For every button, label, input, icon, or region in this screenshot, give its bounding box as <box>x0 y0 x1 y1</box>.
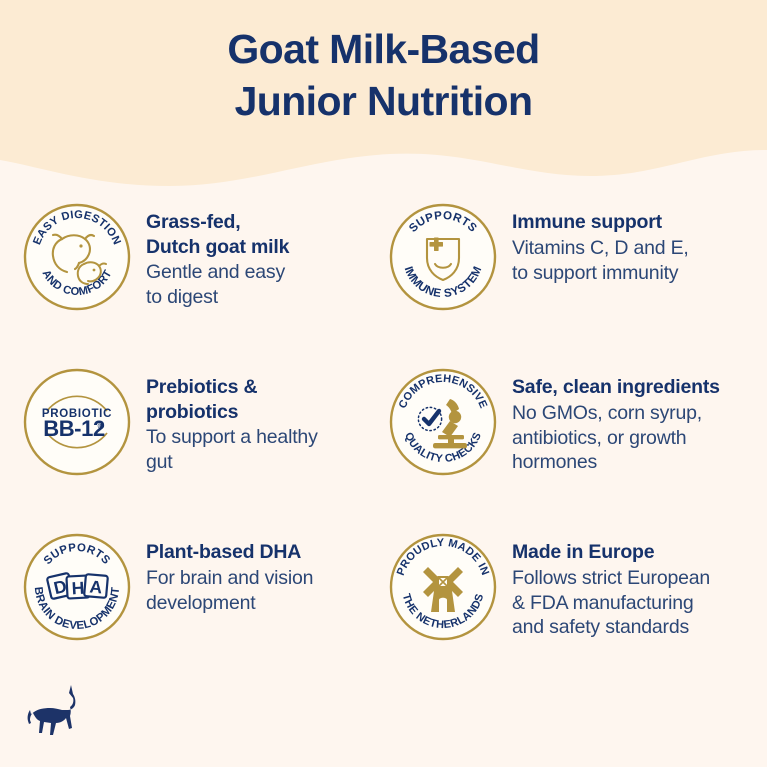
feature-text: Plant-based DHA For brain and vision dev… <box>146 526 313 615</box>
feature-text: Prebiotics & probiotics To support a hea… <box>146 361 318 475</box>
feature-title: Safe, clean ingredients <box>512 375 720 400</box>
feature-text: Grass-fed, Dutch goat milk Gentle and ea… <box>146 196 289 310</box>
bb-12-label: BB-12 <box>43 416 105 441</box>
feature-immune-support: SUPPORTS IMMUNE SYSTEM Immune support Vi… <box>388 196 738 361</box>
feature-text: Safe, clean ingredients No GMOs, corn sy… <box>512 361 720 475</box>
feature-desc-line-2: gut <box>146 451 173 473</box>
feature-title: Immune support <box>512 210 689 235</box>
feature-text: Made in Europe Follows strict European &… <box>512 526 710 640</box>
feature-grid: EASY DIGESTION AND COMFORT <box>0 196 767 686</box>
feature-desc-line-1: Follows strict European <box>512 567 710 589</box>
feature-title-line-1: Prebiotics & <box>146 376 257 398</box>
supports-immune-system-badge: SUPPORTS IMMUNE SYSTEM <box>388 202 498 312</box>
feature-description: Follows strict European & FDA manufactur… <box>512 566 710 641</box>
feature-desc-line-2: to support immunity <box>512 262 678 284</box>
easy-digestion-and-comfort-badge: EASY DIGESTION AND COMFORT <box>22 202 132 312</box>
feature-grass-fed-dutch-goat-milk: EASY DIGESTION AND COMFORT <box>22 196 372 361</box>
feature-desc-line-2: antibiotics, or growth <box>512 427 686 449</box>
feature-title-line-2: Dutch goat milk <box>146 236 289 258</box>
feature-made-in-europe: PROUDLY MADE IN THE NETHERLANDS <box>388 526 738 686</box>
feature-desc-line-1: For brain and vision <box>146 567 313 589</box>
feature-prebiotics-and-probiotics: PROBIOTIC BB-12 ® Prebiotics & probiotic… <box>22 361 372 526</box>
goat-silhouette-logo <box>22 683 84 739</box>
page-title-line-2: Junior Nutrition <box>235 76 533 126</box>
dha-block-h: H <box>71 578 85 599</box>
feature-desc-line-1: Gentle and easy <box>146 261 285 283</box>
proudly-made-in-the-netherlands-badge: PROUDLY MADE IN THE NETHERLANDS <box>388 532 498 642</box>
feature-title-line-2: probiotics <box>146 401 238 423</box>
feature-plant-based-dha: SUPPORTS BRAIN DEVELOPMENT D H <box>22 526 372 686</box>
page-title-line-1: Goat Milk-Based <box>227 24 539 74</box>
feature-desc-line-2: to digest <box>146 286 218 308</box>
feature-desc-line-1: To support a healthy <box>146 426 318 448</box>
feature-title: Plant-based DHA <box>146 540 313 565</box>
feature-desc-line-2: development <box>146 592 255 614</box>
feature-desc-line-1: Vitamins C, D and E, <box>512 237 689 259</box>
feature-description: To support a healthy gut <box>146 425 318 475</box>
feature-description: Gentle and easy to digest <box>146 260 289 310</box>
feature-desc-line-3: and safety standards <box>512 616 689 638</box>
registered-trademark-mark: ® <box>98 421 105 431</box>
feature-title: Made in Europe <box>512 540 710 565</box>
feature-safe-clean-ingredients: COMPREHENSIVE QUALITY CHECKS <box>388 361 738 526</box>
supports-brain-development-badge: SUPPORTS BRAIN DEVELOPMENT D H <box>22 532 132 642</box>
feature-desc-line-2: & FDA manufacturing <box>512 592 694 614</box>
comprehensive-quality-checks-badge: COMPREHENSIVE QUALITY CHECKS <box>388 367 498 477</box>
dha-block-a: A <box>89 576 104 597</box>
feature-title: Prebiotics & probiotics <box>146 375 318 424</box>
feature-description: No GMOs, corn syrup, antibiotics, or gro… <box>512 401 720 476</box>
feature-desc-line-1: No GMOs, corn syrup, <box>512 402 702 424</box>
feature-title-line-1: Grass-fed, <box>146 211 240 233</box>
probiotic-bb-12-badge: PROBIOTIC BB-12 ® <box>22 367 132 477</box>
page-title: Goat Milk-Based Junior Nutrition <box>0 0 767 150</box>
feature-title: Grass-fed, Dutch goat milk <box>146 210 289 259</box>
feature-description: For brain and vision development <box>146 566 313 616</box>
feature-text: Immune support Vitamins C, D and E, to s… <box>512 196 689 285</box>
feature-desc-line-3: hormones <box>512 451 597 473</box>
header-banner: Goat Milk-Based Junior Nutrition <box>0 0 767 190</box>
feature-description: Vitamins C, D and E, to support immunity <box>512 236 689 286</box>
